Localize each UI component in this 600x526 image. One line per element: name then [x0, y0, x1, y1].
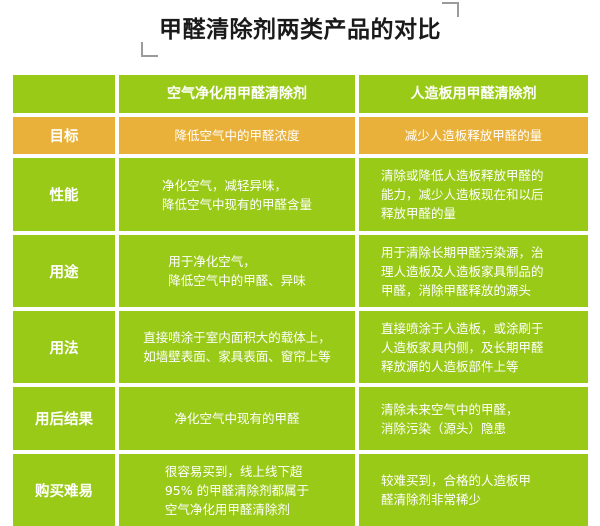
row-cell-text: 减少人造板释放甲醛的量	[405, 126, 543, 145]
header-cell-blank	[13, 75, 115, 113]
table-row: 购买难易 很容易买到，线上线下超 95% 的甲醛清除剂都属于 空气净化用甲醛清除…	[13, 454, 588, 526]
row-cell-application-column-b: 直接喷涂于人造板，或涂刷于 人造板家具内侧，及长期甲醛 释放源的人造板部件上等	[359, 311, 588, 383]
comparison-infographic: 甲醛清除剂两类产品的对比 空气净化用甲醛清除剂 人造板用甲醛清除剂 目标 降低空…	[0, 0, 600, 503]
row-label-availability: 购买难易	[13, 454, 115, 526]
row-label-performance: 性能	[13, 158, 115, 231]
table-row: 用后结果 净化空气中现有的甲醛 清除未来空气中的甲醛， 消除污染（源头）隐患	[13, 387, 588, 450]
header-cell-column-a: 空气净化用甲醛清除剂	[119, 75, 355, 113]
row-cell-result-column-a: 净化空气中现有的甲醛	[119, 387, 355, 450]
row-cell-text: 用于净化空气， 降低空气中的甲醛、异味	[168, 252, 306, 290]
header-column-b-text: 人造板用甲醛清除剂	[411, 85, 537, 104]
corner-bracket-top-right-icon	[442, 2, 459, 17]
row-cell-application-column-a: 直接喷涂于室内面积大的载体上， 如墙壁表面、家具表面、窗帘上等	[119, 311, 355, 383]
row-label-goal: 目标	[13, 117, 115, 154]
row-cell-text: 直接喷涂于人造板，或涂刷于 人造板家具内侧，及长期甲醛 释放源的人造板部件上等	[381, 319, 544, 376]
row-label-text: 用法	[50, 337, 79, 358]
row-cell-availability-column-a: 很容易买到，线上线下超 95% 的甲醛清除剂都属于 空气净化用甲醛清除剂	[119, 454, 355, 526]
row-label-text: 性能	[50, 184, 79, 205]
row-label-application: 用法	[13, 311, 115, 383]
row-cell-result-column-b: 清除未来空气中的甲醛， 消除污染（源头）隐患	[359, 387, 588, 450]
table-row: 用法 直接喷涂于室内面积大的载体上， 如墙壁表面、家具表面、窗帘上等 直接喷涂于…	[13, 311, 588, 383]
row-cell-goal-column-a: 降低空气中的甲醛浓度	[119, 117, 355, 154]
row-cell-text: 较难买到，合格的人造板甲 醛清除剂非常稀少	[381, 471, 531, 509]
header-cell-column-b: 人造板用甲醛清除剂	[359, 75, 588, 113]
row-label-text: 用途	[50, 261, 79, 282]
header-column-a-text: 空气净化用甲醛清除剂	[167, 85, 307, 104]
row-cell-text: 净化空气，减轻异味， 降低空气中现有的甲醛含量	[162, 176, 312, 214]
corner-bracket-bottom-left-icon	[141, 42, 158, 57]
row-cell-usage-column-b: 用于清除长期甲醛污染源，治 理人造板及人造板家具制品的 甲醛，消除甲醛释放的源头	[359, 235, 588, 307]
page-title: 甲醛清除剂两类产品的对比	[0, 0, 600, 60]
table-header-row: 空气净化用甲醛清除剂 人造板用甲醛清除剂	[13, 75, 588, 113]
page-title-text: 甲醛清除剂两类产品的对比	[159, 17, 441, 43]
row-cell-text: 降低空气中的甲醛浓度	[174, 126, 299, 145]
row-label-text: 目标	[50, 125, 79, 146]
row-cell-text: 用于清除长期甲醛污染源，治 理人造板及人造板家具制品的 甲醛，消除甲醛释放的源头	[381, 243, 544, 300]
row-label-text: 用后结果	[35, 408, 93, 429]
row-label-result: 用后结果	[13, 387, 115, 450]
table-row: 用途 用于净化空气， 降低空气中的甲醛、异味 用于清除长期甲醛污染源，治 理人造…	[13, 235, 588, 307]
row-cell-goal-column-b: 减少人造板释放甲醛的量	[359, 117, 588, 154]
row-cell-performance-column-b: 清除或降低人造板释放甲醛的 能力，减少人造板现在和以后 释放甲醛的量	[359, 158, 588, 231]
row-cell-text: 很容易买到，线上线下超 95% 的甲醛清除剂都属于 空气净化用甲醛清除剂	[165, 462, 309, 519]
row-label-usage: 用途	[13, 235, 115, 307]
table-row: 性能 净化空气，减轻异味， 降低空气中现有的甲醛含量 清除或降低人造板释放甲醛的…	[13, 158, 588, 231]
row-cell-text: 净化空气中现有的甲醛	[174, 409, 299, 428]
row-cell-text: 直接喷涂于室内面积大的载体上， 如墙壁表面、家具表面、窗帘上等	[143, 328, 331, 366]
row-cell-usage-column-a: 用于净化空气， 降低空气中的甲醛、异味	[119, 235, 355, 307]
row-label-text: 购买难易	[35, 480, 93, 501]
table-row: 目标 降低空气中的甲醛浓度 减少人造板释放甲醛的量	[13, 117, 588, 154]
row-cell-performance-column-a: 净化空气，减轻异味， 降低空气中现有的甲醛含量	[119, 158, 355, 231]
row-cell-availability-column-b: 较难买到，合格的人造板甲 醛清除剂非常稀少	[359, 454, 588, 526]
row-cell-text: 清除或降低人造板释放甲醛的 能力，减少人造板现在和以后 释放甲醛的量	[381, 166, 544, 223]
title-inner: 甲醛清除剂两类产品的对比	[145, 15, 455, 45]
row-cell-text: 清除未来空气中的甲醛， 消除污染（源头）隐患	[381, 400, 519, 438]
comparison-table: 空气净化用甲醛清除剂 人造板用甲醛清除剂 目标 降低空气中的甲醛浓度 减少人造板…	[13, 75, 588, 526]
